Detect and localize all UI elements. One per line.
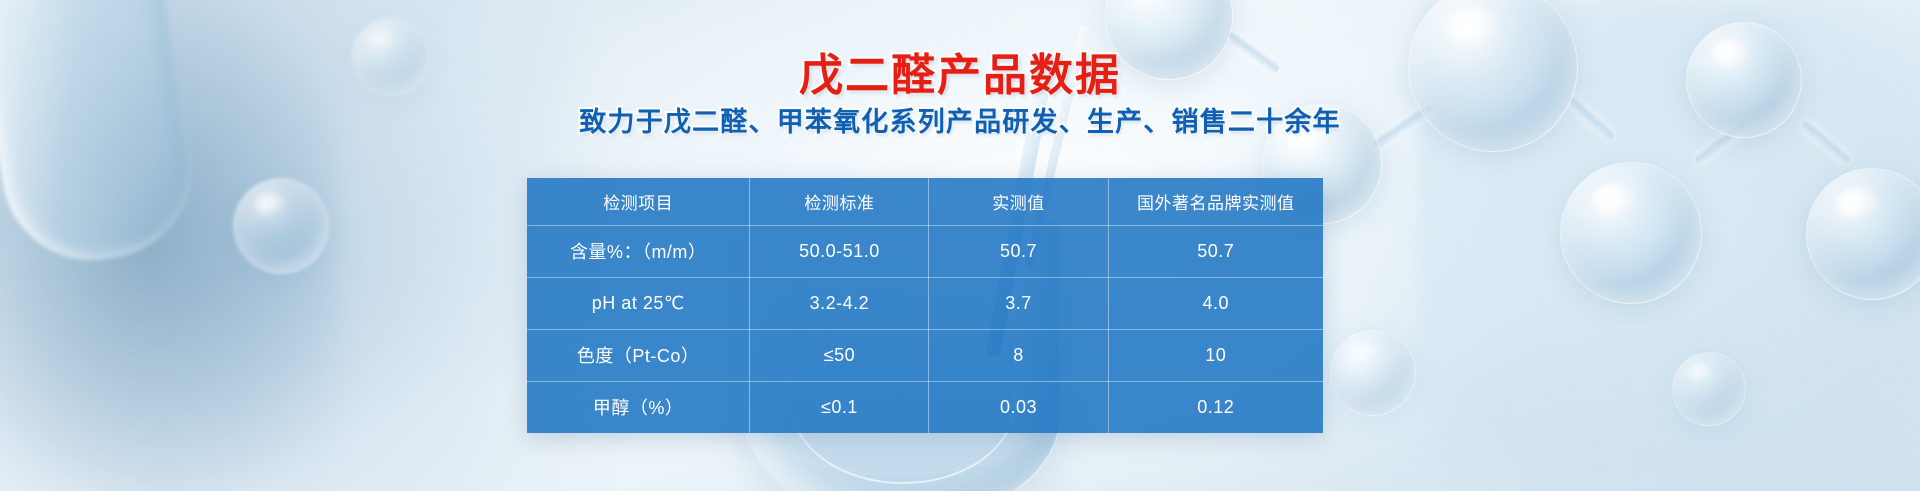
product-data-banner: 戊二醛产品数据 致力于戊二醛、甲苯氧化系列产品研发、生产、销售二十余年 检测项目…: [0, 0, 1920, 491]
table-row: 含量%：（m/m） 50.0-51.0 50.7 50.7: [527, 225, 1323, 277]
molecule-sphere: [1672, 352, 1746, 426]
cell-test-item: 含量%：（m/m）: [527, 225, 750, 277]
cell-test-standard: 50.0-51.0: [750, 225, 929, 277]
product-spec-table: 检测项目 检测标准 实测值 国外著名品牌实测值 含量%：（m/m） 50.0-5…: [527, 178, 1323, 433]
column-header-measured-value: 实测值: [929, 178, 1108, 225]
cell-test-standard: 3.2-4.2: [750, 277, 929, 329]
column-header-foreign-brand: 国外著名品牌实测值: [1108, 178, 1323, 225]
cell-measured-value: 50.7: [929, 225, 1108, 277]
cell-foreign-brand: 4.0: [1108, 277, 1323, 329]
column-header-test-standard: 检测标准: [750, 178, 929, 225]
cell-measured-value: 3.7: [929, 277, 1108, 329]
spec-table-body: 含量%：（m/m） 50.0-51.0 50.7 50.7 pH at 25℃ …: [527, 225, 1323, 433]
spec-table-container: 检测项目 检测标准 实测值 国外著名品牌实测值 含量%：（m/m） 50.0-5…: [527, 178, 1323, 433]
cell-foreign-brand: 10: [1108, 329, 1323, 381]
table-row: 甲醇（%） ≤0.1 0.03 0.12: [527, 381, 1323, 433]
cell-test-item: pH at 25℃: [527, 277, 750, 329]
table-row: 色度（Pt-Co） ≤50 8 10: [527, 329, 1323, 381]
cell-test-standard: ≤0.1: [750, 381, 929, 433]
cell-test-standard: ≤50: [750, 329, 929, 381]
cell-measured-value: 8: [929, 329, 1108, 381]
spec-table-head: 检测项目 检测标准 实测值 国外著名品牌实测值: [527, 178, 1323, 225]
cell-test-item: 甲醇（%）: [527, 381, 750, 433]
page-title: 戊二醛产品数据: [0, 52, 1920, 100]
page-subtitle: 致力于戊二醛、甲苯氧化系列产品研发、生产、销售二十余年: [0, 107, 1920, 138]
table-header-row: 检测项目 检测标准 实测值 国外著名品牌实测值: [527, 178, 1323, 225]
molecule-sphere: [1330, 330, 1416, 416]
cell-foreign-brand: 0.12: [1108, 381, 1323, 433]
banner-text-block: 戊二醛产品数据 致力于戊二醛、甲苯氧化系列产品研发、生产、销售二十余年: [0, 52, 1920, 138]
cell-foreign-brand: 50.7: [1108, 225, 1323, 277]
table-row: pH at 25℃ 3.2-4.2 3.7 4.0: [527, 277, 1323, 329]
cell-test-item: 色度（Pt-Co）: [527, 329, 750, 381]
cell-measured-value: 0.03: [929, 381, 1108, 433]
molecule-sphere: [233, 178, 329, 274]
molecule-sphere: [1560, 162, 1702, 304]
column-header-test-item: 检测项目: [527, 178, 750, 225]
